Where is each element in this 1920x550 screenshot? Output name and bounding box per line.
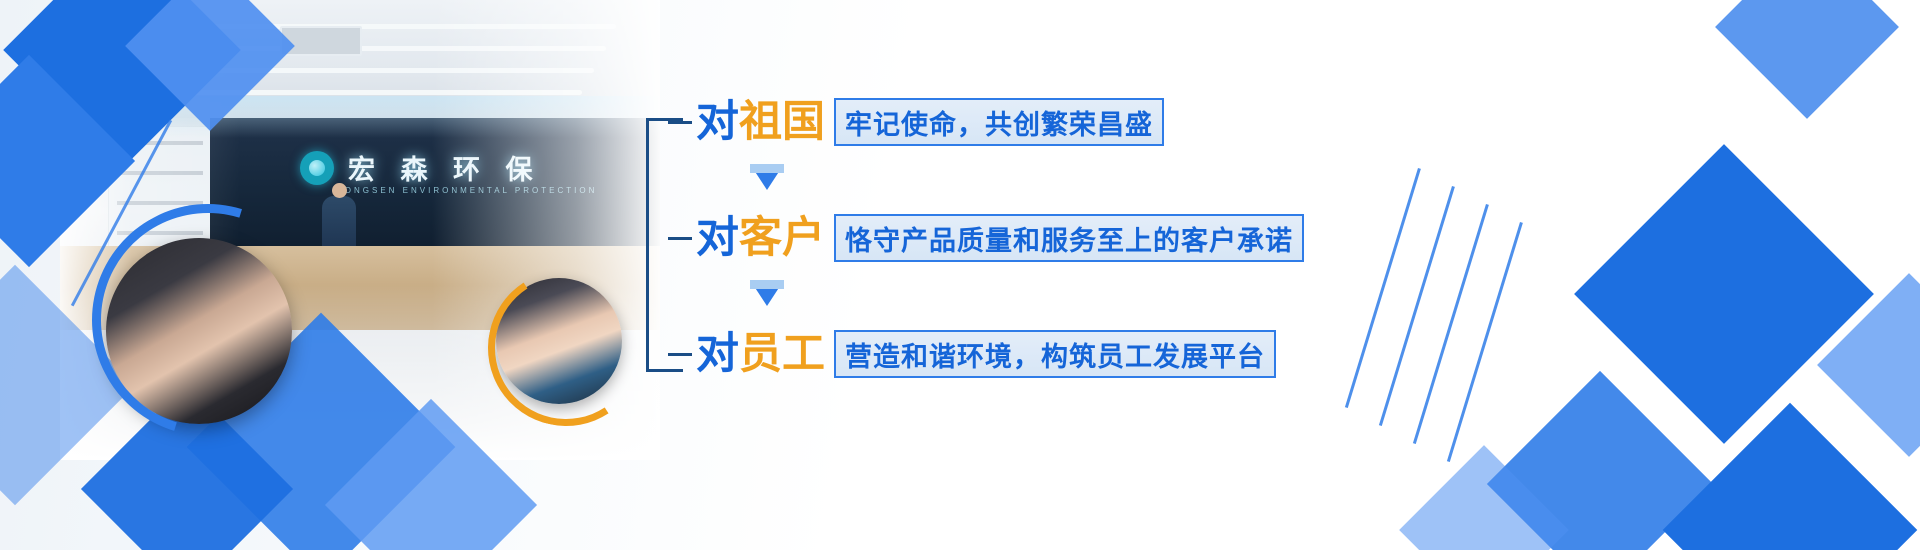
- row-2-keyword: 客户: [739, 214, 825, 262]
- statement-row-1: 对祖国 牢记使命，共创繁荣昌盛: [668, 94, 1164, 150]
- row-3-prefix: 对: [696, 330, 739, 378]
- statement-row-2: 对客户 恪守产品质量和服务至上的客户承诺: [668, 210, 1304, 266]
- row-2-prefix: 对: [696, 214, 739, 262]
- culture-statements: 对祖国 牢记使命，共创繁荣昌盛 对客户 恪守产品质量和服务至上的客户承诺 对员工…: [646, 86, 1346, 398]
- row-stem: [668, 237, 692, 240]
- row-3-statement: 营造和谐环境，构筑员工发展平台: [834, 330, 1276, 378]
- row-2-label: 对客户: [696, 217, 825, 260]
- row-3-keyword: 员工: [739, 330, 825, 378]
- down-arrow-icon: [750, 280, 784, 306]
- row-3-label: 对员工: [696, 333, 825, 376]
- company-culture-banner: 宏 森 环 保 HONGSEN ENVIRONMENTAL PROTECTION…: [0, 0, 1920, 550]
- row-1-label: 对祖国: [696, 101, 825, 144]
- row-1-statement: 牢记使命，共创繁荣昌盛: [834, 98, 1164, 146]
- row-stem: [668, 353, 692, 356]
- row-stem: [668, 121, 692, 124]
- row-1-prefix: 对: [696, 98, 739, 146]
- row-1-keyword: 祖国: [739, 98, 825, 146]
- statement-row-3: 对员工 营造和谐环境，构筑员工发展平台: [668, 326, 1276, 382]
- down-arrow-icon: [750, 164, 784, 190]
- row-2-statement: 恪守产品质量和服务至上的客户承诺: [834, 214, 1304, 262]
